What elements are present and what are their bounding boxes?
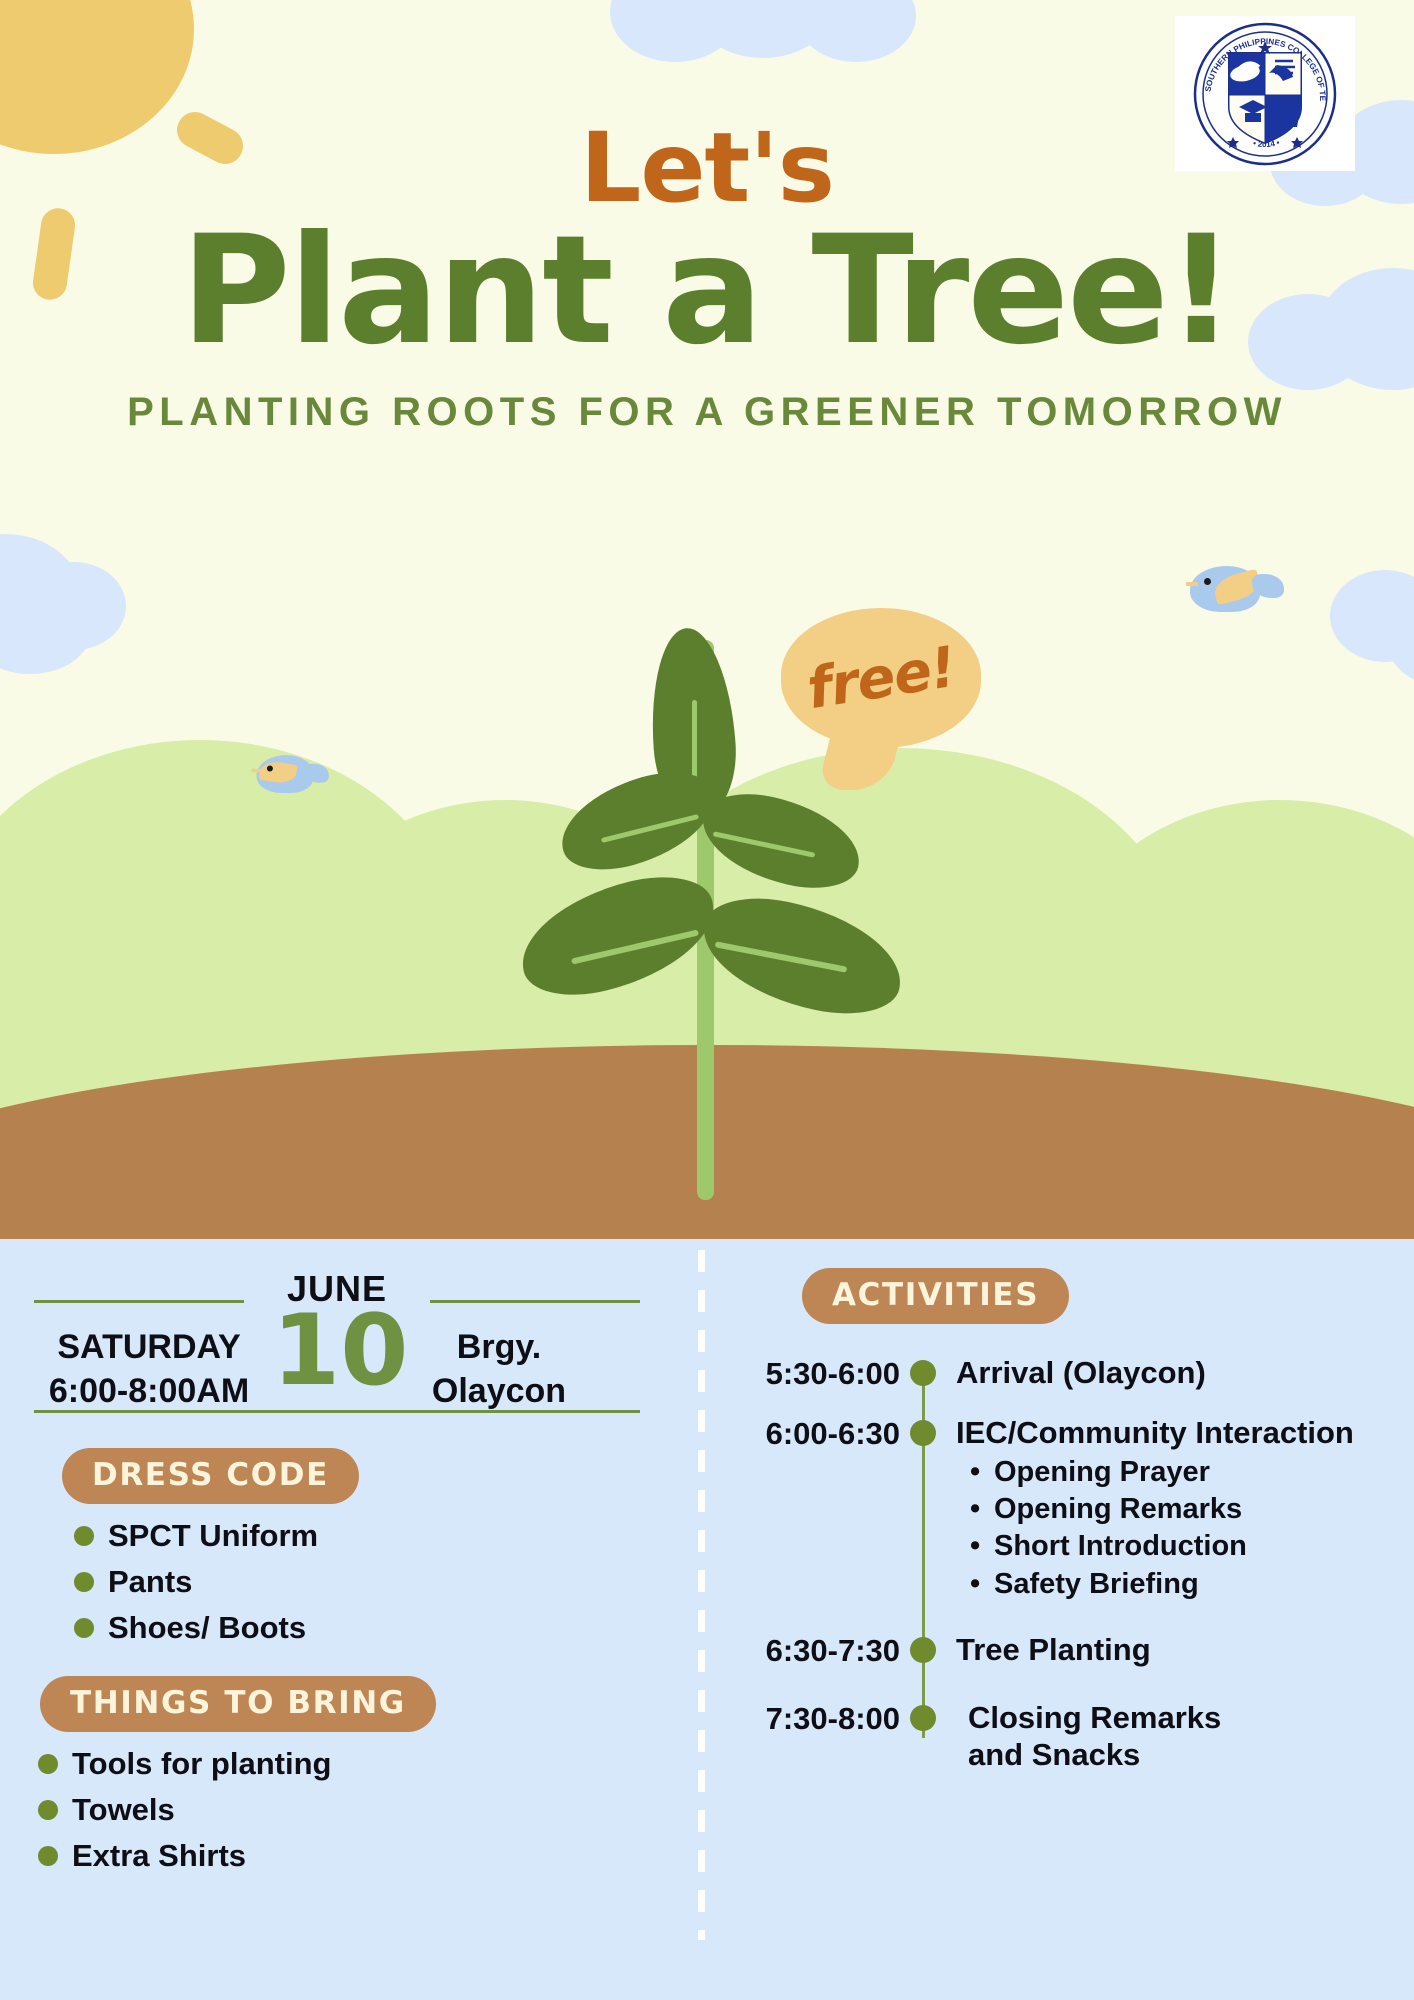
timeline-dot-icon: [910, 1360, 936, 1386]
timeline-row: 7:30-8:00 Closing Remarks and Snacks: [720, 1699, 1414, 1773]
location-line-2: Olaycon: [404, 1370, 594, 1414]
dress-code-section: DRESS CODE SPCT Uniform Pants Shoes/ Boo…: [62, 1448, 680, 1646]
things-to-bring-section: THINGS TO BRING Tools for planting Towel…: [40, 1676, 680, 1874]
date-calendar: JUNE 10: [272, 1268, 402, 1396]
activities-column: ACTIVITIES 5:30-6:00 Arrival (Olaycon) 6…: [720, 1268, 1414, 1777]
date-row: SATURDAY 6:00-8:00AM JUNE 10 Brgy. Olayc…: [0, 1268, 680, 1418]
timeline-dot-icon: [910, 1705, 936, 1731]
bullet-dot-icon: [74, 1526, 94, 1546]
timeline-sub-list: Opening Prayer Opening Remarks Short Int…: [956, 1454, 1414, 1602]
date-weekday-time: SATURDAY 6:00-8:00AM: [34, 1326, 264, 1413]
dress-code-item-label: SPCT Uniform: [108, 1518, 318, 1554]
rule-top-left: [34, 1300, 244, 1303]
vertical-dashed-divider: [698, 1250, 705, 1940]
timeline-content: Closing Remarks and Snacks: [956, 1699, 1414, 1773]
free-badge-label: free!: [803, 634, 960, 721]
dress-code-item-label: Pants: [108, 1564, 192, 1600]
activities-header: ACTIVITIES: [802, 1268, 1414, 1324]
dress-code-badge: DRESS CODE: [62, 1448, 359, 1504]
timeline-content: Arrival (Olaycon): [956, 1354, 1414, 1391]
timeline-sub-item: Safety Briefing: [956, 1566, 1414, 1603]
date-day-number: 10: [272, 1306, 402, 1396]
event-details-column: SATURDAY 6:00-8:00AM JUNE 10 Brgy. Olayc…: [0, 1268, 680, 1884]
timeline-time: 5:30-6:00: [720, 1354, 900, 1392]
date-time: 6:00-8:00AM: [34, 1370, 264, 1414]
timeline-dot-icon: [910, 1637, 936, 1663]
timeline-title: Tree Planting: [956, 1631, 1414, 1668]
bullet-dot-icon: [38, 1800, 58, 1820]
bullet-dot-icon: [38, 1754, 58, 1774]
things-to-bring-list: Tools for planting Towels Extra Shirts: [26, 1746, 680, 1874]
illustration-panel: free! SOUTHERN PHILIPPINES COLLEGE OF TE…: [0, 0, 1414, 1239]
dress-code-list: SPCT Uniform Pants Shoes/ Boots: [62, 1518, 680, 1646]
date-location: Brgy. Olaycon: [404, 1326, 594, 1413]
activities-badge: ACTIVITIES: [802, 1268, 1069, 1324]
rule-top-right: [430, 1300, 640, 1303]
list-item: Tools for planting: [38, 1746, 680, 1782]
bring-item-label: Tools for planting: [72, 1746, 331, 1782]
timeline-time: 6:30-7:30: [720, 1631, 900, 1669]
timeline-row: 5:30-6:00 Arrival (Olaycon): [720, 1354, 1414, 1392]
bullet-dot-icon: [74, 1618, 94, 1638]
timeline-sub-item: Opening Prayer: [956, 1454, 1414, 1491]
location-line-1: Brgy.: [404, 1326, 594, 1370]
things-to-bring-badge: THINGS TO BRING: [40, 1676, 436, 1732]
timeline-content: Tree Planting: [956, 1631, 1414, 1668]
list-item: Extra Shirts: [38, 1838, 680, 1874]
list-item: Shoes/ Boots: [74, 1610, 680, 1646]
subtitle: PLANTING ROOTS FOR A GREENER TOMORROW: [0, 390, 1414, 435]
timeline-content: IEC/Community Interaction Opening Prayer…: [956, 1414, 1414, 1603]
bullet-dot-icon: [38, 1846, 58, 1866]
timeline-title: Arrival (Olaycon): [956, 1354, 1414, 1391]
timeline-time: 6:00-6:30: [720, 1414, 900, 1452]
bullet-dot-icon: [74, 1572, 94, 1592]
timeline-row: 6:30-7:30 Tree Planting: [720, 1631, 1414, 1669]
timeline-sub-item: Opening Remarks: [956, 1491, 1414, 1528]
date-weekday: SATURDAY: [34, 1326, 264, 1370]
bring-item-label: Extra Shirts: [72, 1838, 246, 1874]
headline-lets: Let's: [0, 120, 1414, 216]
activities-timeline: 5:30-6:00 Arrival (Olaycon) 6:00-6:30 IE…: [720, 1354, 1414, 1773]
list-item: SPCT Uniform: [74, 1518, 680, 1554]
free-badge: free!: [781, 608, 981, 748]
timeline-title: Closing Remarks and Snacks: [968, 1699, 1414, 1773]
timeline-sub-item: Short Introduction: [956, 1528, 1414, 1565]
dress-code-item-label: Shoes/ Boots: [108, 1610, 306, 1646]
list-item: Pants: [74, 1564, 680, 1600]
headline-block: Let's Plant a Tree! PLANTING ROOTS FOR A…: [0, 120, 1414, 435]
timeline-time: 7:30-8:00: [720, 1699, 900, 1737]
timeline-dot-icon: [910, 1420, 936, 1446]
timeline-title: IEC/Community Interaction: [956, 1414, 1414, 1451]
list-item: Towels: [38, 1792, 680, 1828]
timeline-row: 6:00-6:30 IEC/Community Interaction Open…: [720, 1414, 1414, 1603]
page-title: Plant a Tree!: [0, 210, 1414, 372]
bring-item-label: Towels: [72, 1792, 175, 1828]
